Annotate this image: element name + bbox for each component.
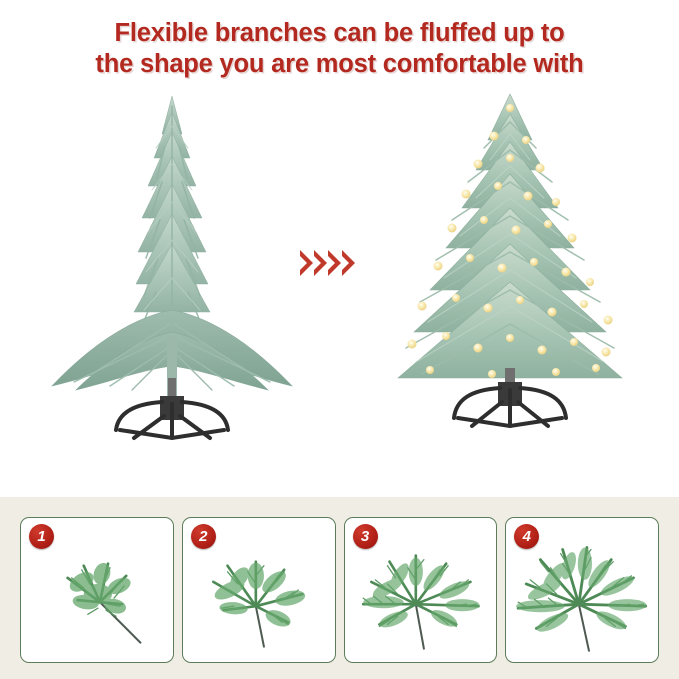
step-card-3: 3 <box>344 517 498 663</box>
before-tree-block <box>22 86 322 496</box>
chevron-right-icon <box>342 250 355 276</box>
page-title: Flexible branches can be fluffed up to t… <box>0 18 679 80</box>
step-card-1: 1 <box>20 517 174 663</box>
headline-line-2: the shape you are most comfortable with <box>0 49 679 80</box>
after-tree-block <box>360 86 660 496</box>
step-card-4: 4 <box>505 517 659 663</box>
chevron-right-icon <box>300 250 313 276</box>
after-tree-image <box>360 86 660 446</box>
step-card-2: 2 <box>182 517 336 663</box>
step-number-badge: 1 <box>29 524 54 549</box>
chevron-right-icon <box>314 250 327 276</box>
chevron-right-icon <box>328 250 341 276</box>
headline-line-1: Flexible branches can be fluffed up to <box>0 18 679 49</box>
before-tree-image <box>22 86 322 446</box>
step-card-list: 1 <box>20 517 659 663</box>
comparison-stage: Before fluffing After fluffing <box>0 86 679 496</box>
fluffing-steps-panel: 1 <box>0 497 679 679</box>
step-number-badge: 2 <box>191 524 216 549</box>
step-number-badge: 3 <box>353 524 378 549</box>
